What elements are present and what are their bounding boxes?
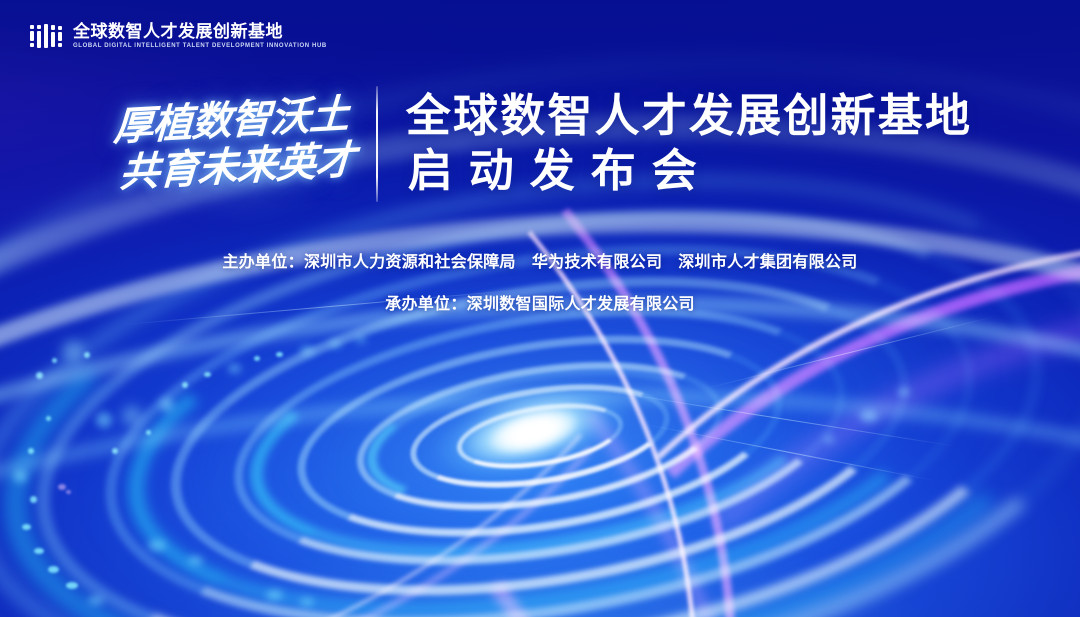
- poster-content: 全球数智人才发展创新基地 GLOBAL DIGITAL INTELLIGENT …: [0, 0, 1080, 617]
- host-label: 主办单位：: [222, 254, 304, 271]
- host-org-1: 深圳市人力资源和社会保障局: [304, 254, 516, 271]
- poster-canvas: 全球数智人才发展创新基地 GLOBAL DIGITAL INTELLIGENT …: [0, 0, 1080, 617]
- equalizer-bars-logo-icon: [30, 22, 62, 50]
- calligraphy-slogan: 厚植数智沃土 共育未来英才: [108, 100, 364, 187]
- vertical-divider: [376, 86, 378, 202]
- brand-text-block: 全球数智人才发展创新基地 GLOBAL DIGITAL INTELLIGENT …: [73, 23, 327, 49]
- host-organizers-line: 主办单位：深圳市人力资源和社会保障局华为技术有限公司深圳市人才集团有限公司: [222, 248, 857, 272]
- brand-lockup: 全球数智人才发展创新基地 GLOBAL DIGITAL INTELLIGENT …: [30, 22, 327, 50]
- coorganizer-line: 承办单位：深圳数智国际人才发展有限公司: [385, 290, 695, 314]
- calligraphy-line-2: 共育未来英才: [118, 140, 355, 195]
- coorganizer-org-1: 深圳数智国际人才发展有限公司: [467, 296, 695, 313]
- brand-name-en: GLOBAL DIGITAL INTELLIGENT TALENT DEVELO…: [73, 43, 327, 49]
- page-title: 全球数智人才发展创新基地: [406, 91, 972, 141]
- host-org-2: 华为技术有限公司: [532, 254, 662, 271]
- page-subtitle: 启动发布会: [406, 144, 972, 197]
- coorganizer-label: 承办单位：: [385, 296, 467, 313]
- hero-block: 厚植数智沃土 共育未来英才 全球数智人才发展创新基地 启动发布会: [0, 86, 1080, 202]
- brand-name-cn: 全球数智人才发展创新基地: [73, 23, 327, 41]
- title-block: 全球数智人才发展创新基地 启动发布会: [406, 91, 972, 197]
- organizer-block: 主办单位：深圳市人力资源和社会保障局华为技术有限公司深圳市人才集团有限公司 承办…: [0, 248, 1080, 314]
- host-org-3: 深圳市人才集团有限公司: [678, 254, 857, 271]
